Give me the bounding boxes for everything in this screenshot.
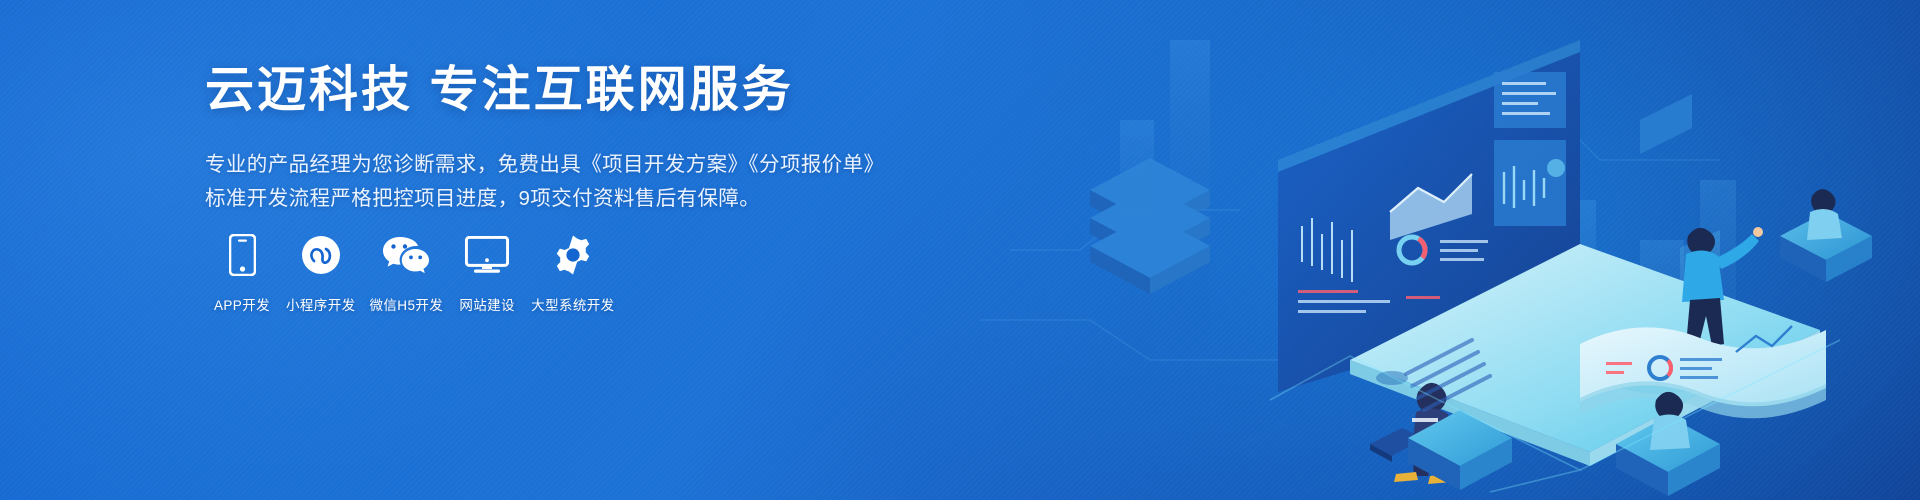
service-label: 大型系统开发 xyxy=(531,294,614,314)
server-stack xyxy=(1090,158,1210,294)
mobile-phone-icon xyxy=(229,232,256,278)
service-item-app[interactable]: APP开发 xyxy=(205,232,279,314)
service-item-website[interactable]: 网站建设 xyxy=(450,232,524,314)
service-item-miniprogram[interactable]: 小程序开发 xyxy=(279,232,363,314)
service-item-wechat-h5[interactable]: 微信H5开发 xyxy=(363,232,451,314)
service-label: APP开发 xyxy=(214,294,270,314)
floating-info-panel xyxy=(1640,0,1692,154)
hero-banner: 云迈科技 专注互联网服务 专业的产品经理为您诊断需求，免费出具《项目开发方案》《… xyxy=(0,0,1920,500)
wechat-icon xyxy=(382,232,430,278)
monitor-icon xyxy=(465,232,509,278)
subtitle-line-1: 专业的产品经理为您诊断需求，免费出具《项目开发方案》《分项报价单》 xyxy=(205,148,965,182)
isometric-data-dashboard-illustration xyxy=(1020,0,1920,500)
service-label: 微信H5开发 xyxy=(370,294,444,314)
service-list: APP开发 小程序开发 微信 xyxy=(205,232,622,314)
service-label: 小程序开发 xyxy=(286,294,356,314)
service-label: 网站建设 xyxy=(459,294,515,314)
hero-text-block: 云迈科技 专注互联网服务 专业的产品经理为您诊断需求，免费出具《项目开发方案》《… xyxy=(205,62,965,216)
hero-subtitle: 专业的产品经理为您诊断需求，免费出具《项目开发方案》《分项报价单》 标准开发流程… xyxy=(205,148,965,216)
subtitle-line-2: 标准开发流程严格把控项目进度，9项交付资料售后有保障。 xyxy=(205,182,965,216)
mini-program-icon xyxy=(301,232,341,278)
gear-icon xyxy=(552,232,594,278)
person-on-cube-far-right xyxy=(1780,189,1872,282)
service-item-large-system[interactable]: 大型系统开发 xyxy=(524,232,621,314)
page-title: 云迈科技 专注互联网服务 xyxy=(205,62,965,120)
